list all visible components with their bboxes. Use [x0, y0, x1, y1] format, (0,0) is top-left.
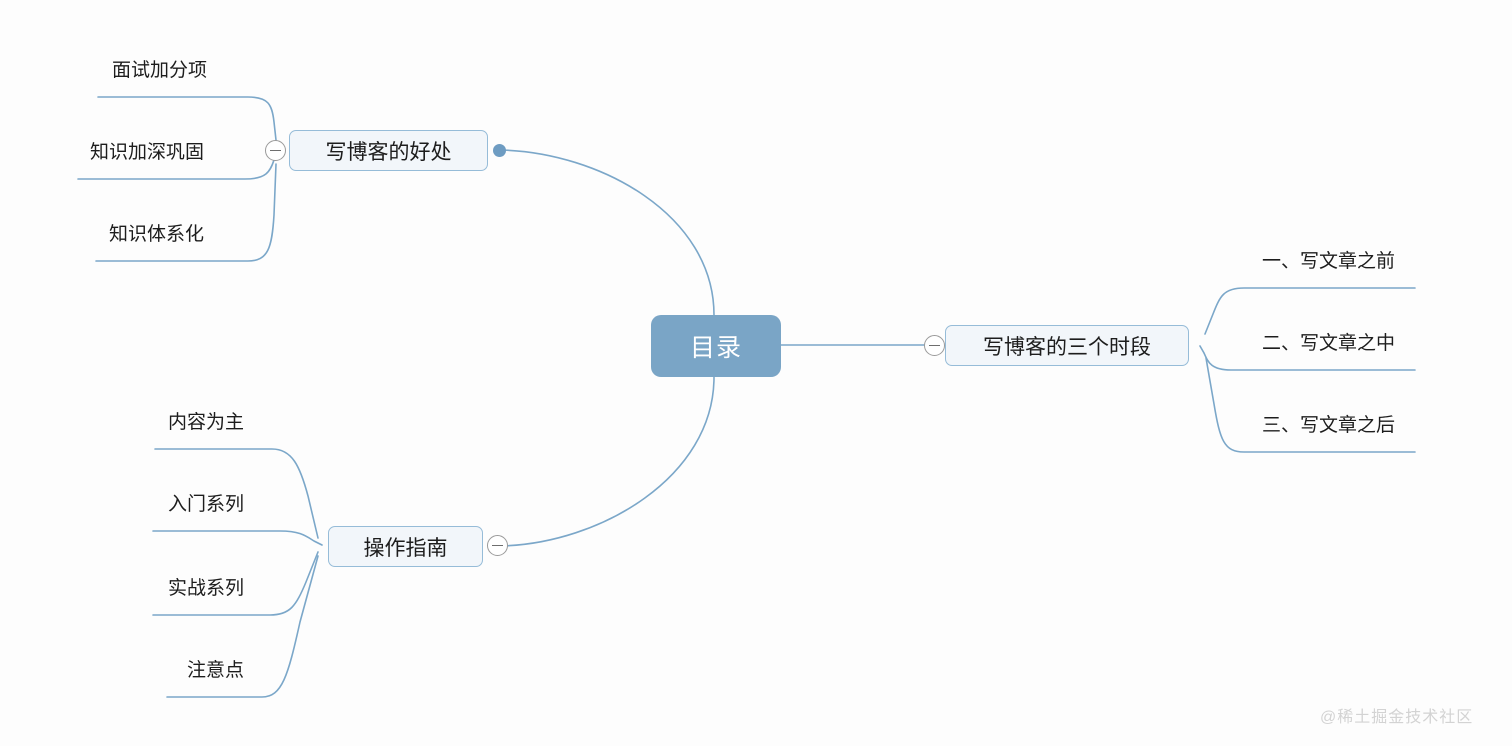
edge-root-benefits — [500, 150, 714, 315]
edge-guide-leaf-1 — [153, 531, 322, 545]
leaf-node-guide-1-label: 入门系列 — [168, 489, 244, 516]
leaf-node-benefits-2[interactable]: 知识体系化 — [109, 219, 204, 246]
leaf-node-phases-1-label: 二、写文章之中 — [1262, 328, 1395, 355]
edge-root-guide — [500, 377, 714, 546]
root-node-label: 目录 — [690, 328, 742, 364]
collapse-toggle-three-phases[interactable] — [924, 335, 945, 356]
edge-benefits-leaf-2 — [96, 164, 276, 261]
leaf-node-phases-2-label: 三、写文章之后 — [1262, 410, 1395, 437]
leaf-node-guide-1[interactable]: 入门系列 — [168, 489, 244, 516]
branch-node-benefits-label: 写博客的好处 — [326, 136, 452, 166]
branch-node-guide-label: 操作指南 — [364, 532, 448, 562]
leaf-node-phases-1[interactable]: 二、写文章之中 — [1262, 328, 1395, 355]
watermark: @稀土掘金技术社区 — [1320, 703, 1473, 727]
leaf-node-benefits-0-label: 面试加分项 — [112, 55, 207, 82]
branch-node-three-phases[interactable]: 写博客的三个时段 — [945, 325, 1189, 366]
branch-node-three-phases-label: 写博客的三个时段 — [983, 331, 1151, 361]
leaf-node-guide-3[interactable]: 注意点 — [187, 655, 244, 682]
connector-dot-benefits — [493, 144, 506, 157]
root-node[interactable]: 目录 — [651, 315, 781, 377]
leaf-node-guide-2-label: 实战系列 — [168, 573, 244, 600]
edge-benefits-leaf-0 — [98, 97, 276, 140]
edge-phases-leaf-2 — [1206, 358, 1415, 452]
watermark-label: @稀土掘金技术社区 — [1320, 709, 1473, 726]
leaf-node-phases-0[interactable]: 一、写文章之前 — [1262, 246, 1395, 273]
collapse-toggle-benefits[interactable] — [265, 140, 286, 161]
leaf-node-guide-2[interactable]: 实战系列 — [168, 573, 244, 600]
branch-node-guide[interactable]: 操作指南 — [328, 526, 483, 567]
leaf-node-guide-0[interactable]: 内容为主 — [168, 407, 244, 434]
leaf-node-guide-3-label: 注意点 — [187, 655, 244, 682]
mindmap-canvas[interactable]: 目录 写博客的好处 面试加分项 知识加深巩固 知识体系化 写博客的三个时段 一、… — [0, 0, 1512, 746]
leaf-node-benefits-1-label: 知识加深巩固 — [90, 137, 204, 164]
leaf-node-benefits-1[interactable]: 知识加深巩固 — [90, 137, 204, 164]
leaf-node-guide-0-label: 内容为主 — [168, 407, 244, 434]
branch-node-benefits[interactable]: 写博客的好处 — [289, 130, 488, 171]
leaf-node-phases-0-label: 一、写文章之前 — [1262, 246, 1395, 273]
leaf-node-benefits-2-label: 知识体系化 — [109, 219, 204, 246]
collapse-toggle-guide[interactable] — [487, 535, 508, 556]
leaf-node-benefits-0[interactable]: 面试加分项 — [112, 55, 207, 82]
leaf-node-phases-2[interactable]: 三、写文章之后 — [1262, 410, 1395, 437]
